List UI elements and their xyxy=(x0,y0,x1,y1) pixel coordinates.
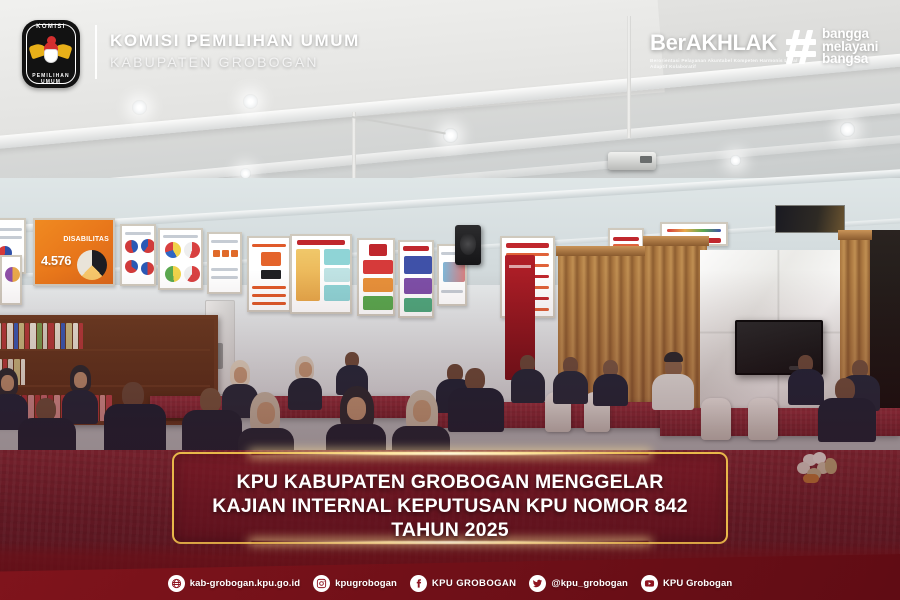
bangga-line3: bangsa xyxy=(822,53,878,66)
twitter-icon[interactable] xyxy=(529,575,546,592)
facebook-icon[interactable] xyxy=(410,575,427,592)
banner-glow-top xyxy=(251,452,648,455)
social-label: kpugrobogan xyxy=(335,578,397,589)
social-item-facebook[interactable]: KPU GROBOGAN xyxy=(410,575,517,592)
org-name-line1: KOMISI PEMILIHAN UMUM xyxy=(110,31,360,51)
poster-canvas: DISABILITAS 4.576 xyxy=(0,0,900,600)
title-text: KPU KABUPATEN GROBOGAN MENGGELAR KAJIAN … xyxy=(174,470,726,542)
title-line-1: KPU KABUPATEN GROBOGAN MENGGELAR xyxy=(174,470,726,494)
title-banner: KPU KABUPATEN GROBOGAN MENGGELAR KAJIAN … xyxy=(172,452,728,544)
social-item-globe[interactable]: kab-grobogan.kpu.go.id xyxy=(168,575,300,592)
header-divider xyxy=(95,25,97,79)
social-item-twitter[interactable]: @kpu_grobogan xyxy=(529,575,628,592)
social-label: KPU Grobogan xyxy=(663,578,732,589)
bangga-melayani-bangsa-logo: bangga melayani bangsa xyxy=(786,28,878,66)
title-line-3: TAHUN 2025 xyxy=(174,518,726,542)
youtube-icon[interactable] xyxy=(641,575,658,592)
social-label: kab-grobogan.kpu.go.id xyxy=(190,578,300,589)
title-line-2: KAJIAN INTERNAL KEPUTUSAN KPU NOMOR 842 xyxy=(174,494,726,518)
kpu-logo-text-bottom: PEMILIHAN UMUM xyxy=(22,73,80,85)
poster-header: KOMISI PEMILIHAN UMUM KOMISI PEMILIHAN U… xyxy=(0,0,900,100)
kpu-logo-text-top: KOMISI xyxy=(22,24,80,30)
hashtag-icon xyxy=(786,30,816,64)
kpu-logo-icon: KOMISI PEMILIHAN UMUM xyxy=(22,20,80,88)
org-name-line2: KABUPATEN GROBOGAN xyxy=(110,54,319,70)
instagram-icon[interactable] xyxy=(313,575,330,592)
social-item-youtube[interactable]: KPU Grobogan xyxy=(641,575,732,592)
social-label: KPU GROBOGAN xyxy=(432,578,517,589)
social-label: @kpu_grobogan xyxy=(551,578,628,589)
globe-icon[interactable] xyxy=(168,575,185,592)
social-item-instagram[interactable]: kpugrobogan xyxy=(313,575,397,592)
social-media-bar: kab-grobogan.kpu.go.idkpugroboganKPU GRO… xyxy=(0,575,900,592)
